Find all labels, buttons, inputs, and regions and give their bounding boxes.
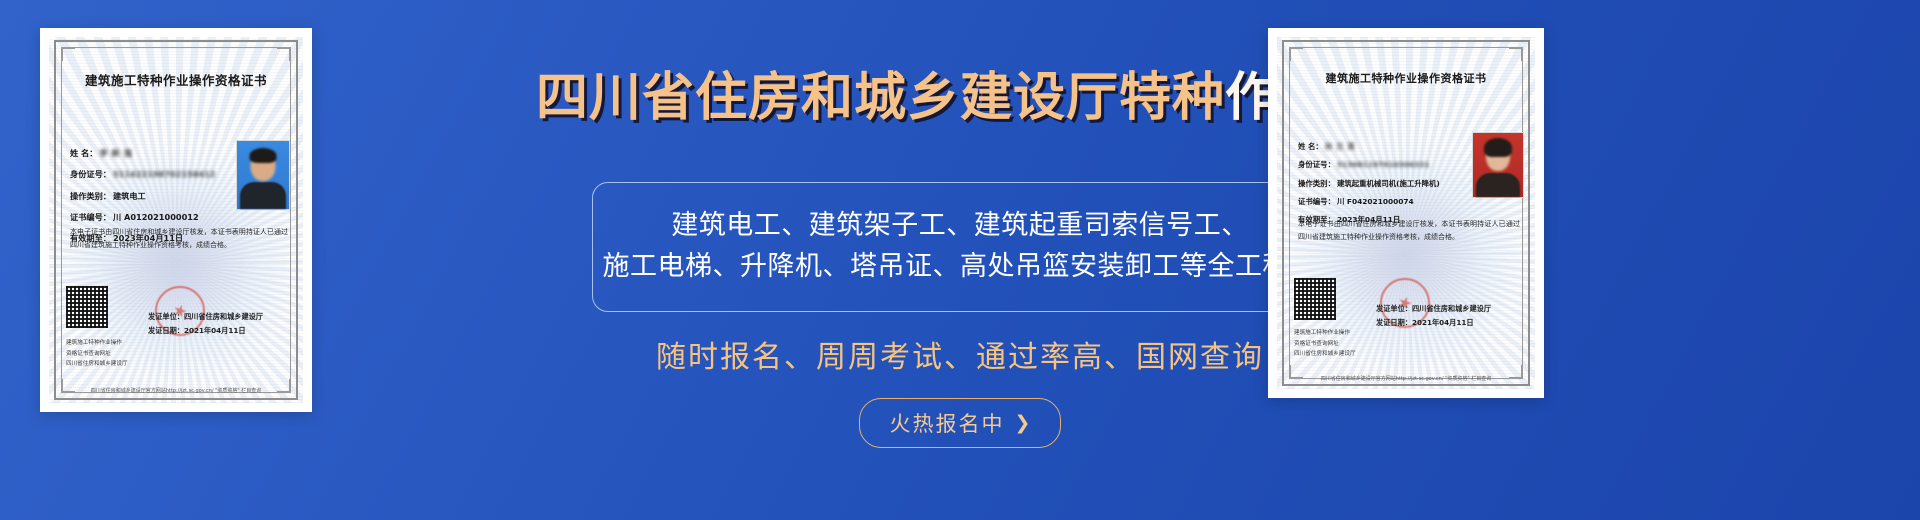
- frame-corner-ornament-icon: [54, 40, 82, 68]
- certificate-title: 建筑施工特种作业操作资格证书: [1268, 70, 1544, 86]
- query-note-line: 建筑施工特种作业操作: [1294, 328, 1356, 339]
- issuer-value: 四川省住房和城乡建设厅: [184, 312, 263, 321]
- field-value: 511422198702158412: [113, 169, 216, 179]
- issuer-value: 四川省住房和城乡建设厅: [1412, 304, 1491, 313]
- issue-date-value: 2021年04月11日: [184, 326, 246, 335]
- certificate-body-text: 本电子证书由四川省住房和城乡建设厅核发，本证书表明持证人已通过四川省建筑施工特种…: [1298, 218, 1520, 244]
- field-label: 身份证号：: [70, 169, 111, 179]
- certificate-photo: [236, 140, 290, 210]
- issue-date-label: 发证日期：: [1376, 318, 1412, 327]
- frame-corner-ornament-icon: [270, 40, 298, 68]
- certificate-footer-note: 四川省住房和城乡建设厅官方网站http://jzt.sc.gov.cn/ "资质…: [56, 387, 296, 394]
- field-value: 建筑起重机械司机(施工升降机): [1337, 179, 1440, 188]
- query-note-line: 建筑施工特种作业操作: [66, 338, 128, 349]
- scope-line-2: 施工电梯、升降机、塔吊证、高处吊篮安装卸工等全工种；: [603, 246, 1318, 287]
- qr-code-icon: [66, 286, 108, 328]
- query-note-line: 四川省住房和城乡建设厅: [66, 359, 128, 370]
- frame-corner-ornament-icon: [270, 372, 298, 400]
- certificate-card-right: 建筑施工特种作业操作资格证书 姓 名： 孙兰英 身份证号： 5136811976…: [1268, 28, 1544, 398]
- frame-corner-ornament-icon: [54, 372, 82, 400]
- query-note-line: 资格证书查询网址: [66, 349, 128, 360]
- photo-hair-shape: [1484, 138, 1512, 157]
- issuer-label: 发证单位：: [1376, 304, 1412, 313]
- issuer-line: 发证单位：四川省住房和城乡建设厅: [148, 310, 263, 324]
- field-label: 证书编号：: [70, 212, 111, 222]
- field-value: 李新强: [99, 148, 136, 158]
- scope-line-1: 建筑电工、建筑架子工、建筑起重司索信号工、: [671, 205, 1249, 246]
- field-value: 川 F042021000074: [1337, 197, 1414, 206]
- field-label: 姓 名：: [70, 148, 97, 158]
- enroll-cta-label: 火热报名中: [890, 408, 1005, 438]
- certificate-issuer-block: 发证单位：四川省住房和城乡建设厅 发证日期：2021年04月11日: [1376, 302, 1491, 329]
- tagline: 随时报名、周周考试、通过率高、国网查询: [656, 332, 1264, 376]
- field-value: 建筑电工: [113, 191, 146, 201]
- promo-banner: 建筑施工特种作业操作资格证书 姓 名： 李新强 身份证号： 5114221987…: [0, 0, 1920, 520]
- field-row-certificate-number: 证书编号： 川 A012021000012: [70, 212, 296, 222]
- certificate-query-note: 建筑施工特种作业操作 资格证书查询网址 四川省住房和城乡建设厅: [66, 338, 128, 370]
- field-value: 孙兰英: [1325, 142, 1359, 151]
- frame-corner-ornament-icon: [1282, 40, 1310, 68]
- page-title-accent: 四川省住房和城乡建设厅特种: [536, 68, 1225, 128]
- chevron-right-icon: ❯: [1015, 412, 1031, 434]
- field-label: 操作类别：: [70, 191, 111, 201]
- qr-code-icon: [1294, 278, 1336, 320]
- field-label: 操作类别：: [1298, 179, 1335, 188]
- query-note-line: 四川省住房和城乡建设厅: [1294, 349, 1356, 360]
- enroll-cta-button[interactable]: 火热报名中 ❯: [859, 398, 1062, 448]
- certificate-body-text: 本电子证书由四川省住房和城乡建设厅核发，本证书表明持证人已通过四川省建筑施工特种…: [70, 226, 288, 252]
- issue-date-line: 发证日期：2021年04月11日: [1376, 316, 1491, 330]
- query-note-line: 资格证书查询网址: [1294, 339, 1356, 350]
- field-label: 身份证号：: [1298, 160, 1335, 169]
- issue-date-label: 发证日期：: [148, 326, 184, 335]
- field-value: 513681197610306331: [1337, 160, 1430, 169]
- scope-info-box: 建筑电工、建筑架子工、建筑起重司索信号工、 施工电梯、升降机、塔吊证、高处吊篮安…: [592, 182, 1328, 312]
- issuer-line: 发证单位：四川省住房和城乡建设厅: [1376, 302, 1491, 316]
- field-label: 证书编号：: [1298, 197, 1335, 206]
- certificate-title: 建筑施工特种作业操作资格证书: [40, 70, 312, 89]
- field-row-certificate-number: 证书编号： 川 F042021000074: [1298, 197, 1528, 206]
- certificate-footer-note: 四川省住房和城乡建设厅官方网站http://jzt.sc.gov.cn/ "资质…: [1284, 375, 1528, 382]
- issue-date-line: 发证日期：2021年04月11日: [148, 324, 263, 338]
- issue-date-value: 2021年04月11日: [1412, 318, 1474, 327]
- field-value: 川 A012021000012: [113, 212, 199, 222]
- photo-body-shape: [1476, 173, 1520, 197]
- certificate-photo: [1472, 132, 1524, 198]
- photo-hair-shape: [250, 148, 277, 163]
- field-label: 姓 名：: [1298, 142, 1323, 151]
- photo-body-shape: [240, 182, 286, 209]
- frame-corner-ornament-icon: [1502, 40, 1530, 68]
- certificate-card-left: 建筑施工特种作业操作资格证书 姓 名： 李新强 身份证号： 5114221987…: [40, 28, 312, 412]
- certificate-issuer-block: 发证单位：四川省住房和城乡建设厅 发证日期：2021年04月11日: [148, 310, 263, 337]
- certificate-query-note: 建筑施工特种作业操作 资格证书查询网址 四川省住房和城乡建设厅: [1294, 328, 1356, 360]
- issuer-label: 发证单位：: [148, 312, 184, 321]
- page-title: 四川省住房和城乡建设厅特种作业证: [536, 72, 1384, 124]
